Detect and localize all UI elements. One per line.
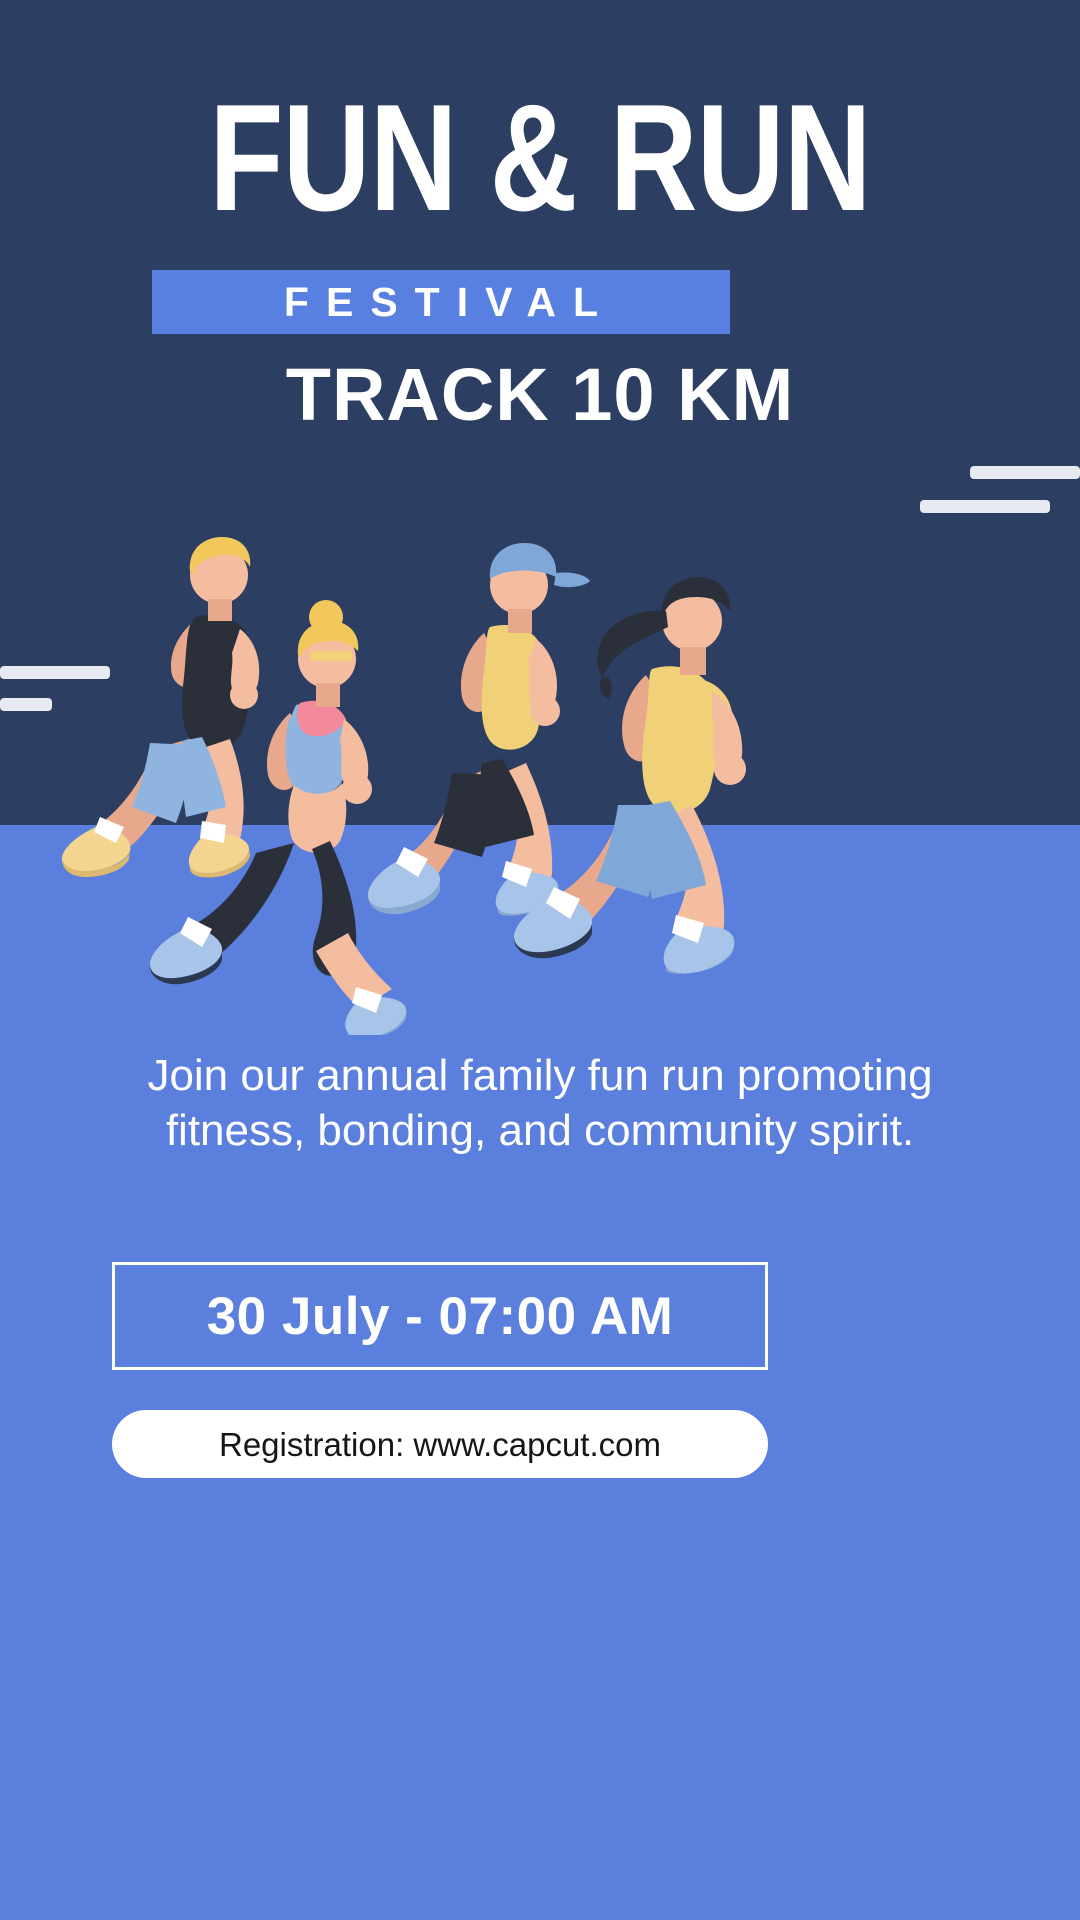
runner-1-figure [62, 537, 259, 878]
festival-label: FESTIVAL [267, 282, 615, 323]
runner-3-figure [368, 543, 590, 916]
registration-button[interactable]: Registration: www.capcut.com [112, 1410, 768, 1478]
date-time-label: 30 July - 07:00 AM [207, 1290, 674, 1343]
runner-4-figure [514, 577, 746, 974]
date-time-box: 30 July - 07:00 AM [112, 1262, 768, 1370]
event-description: Join our annual family fun run promoting… [80, 1048, 1000, 1158]
poster-root: FUN & RUN FESTIVAL TRACK 10 KM [0, 0, 1080, 1920]
speed-line-right-1 [970, 466, 1080, 479]
track-distance-label: TRACK 10 KM [0, 358, 1080, 432]
registration-label: Registration: www.capcut.com [219, 1428, 661, 1461]
four-runners-illustration [0, 505, 1080, 1035]
poster-title: FUN & RUN [108, 84, 972, 232]
festival-banner: FESTIVAL [152, 270, 730, 334]
